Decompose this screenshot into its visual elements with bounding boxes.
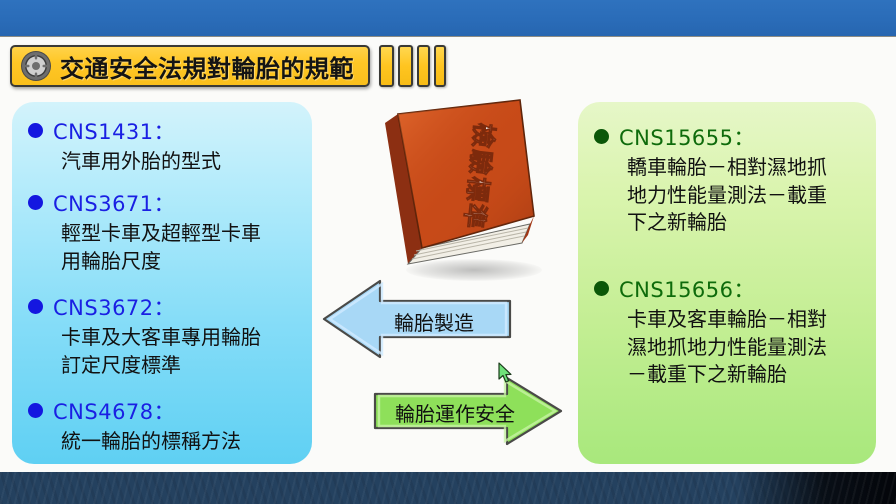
standard-code: CNS15656： (619, 274, 755, 304)
bullet-dot-icon (594, 129, 609, 144)
standard-code: CNS1431： (53, 116, 175, 146)
list-item: CNS4678： 統一輪胎的標稱方法 (28, 396, 300, 456)
slide-canvas: 交通安全法規對輪胎的規範 CNS1431： 汽車用外胎的型式 CNS3671： (0, 0, 896, 504)
desc-line: 下之新輪胎 (627, 209, 864, 237)
list-item: CNS15655： 轎車輪胎－相對濕地抓 地力性能量測法－載重 下之新輪胎 (594, 122, 864, 237)
standard-description: 卡車及大客車專用輪胎 訂定尺度標準 (61, 324, 300, 379)
decorative-bar (398, 45, 413, 87)
bottom-landscape-strip (0, 472, 896, 504)
landscape-dark-right (736, 472, 896, 504)
title-plate: 交通安全法規對輪胎的規範 (10, 45, 370, 87)
slide-title-bar: 交通安全法規對輪胎的規範 (10, 45, 446, 87)
standard-description: 轎車輪胎－相對濕地抓 地力性能量測法－載重 下之新輪胎 (627, 154, 864, 237)
desc-line: －載重下之新輪胎 (627, 361, 864, 389)
bullet-dot-icon (594, 281, 609, 296)
arrow-tire-manufacturing: 輪胎製造 (322, 277, 512, 361)
bullet-dot-icon (28, 195, 43, 210)
standard-code: CNS4678： (53, 396, 175, 426)
mouse-cursor-icon (498, 362, 514, 384)
arrow-left-label: 輪胎製造 (394, 307, 474, 336)
tire-icon (20, 50, 52, 82)
right-standards-panel: CNS15655： 轎車輪胎－相對濕地抓 地力性能量測法－載重 下之新輪胎 CN… (578, 102, 876, 464)
standard-description: 輕型卡車及超輕型卡車 用輪胎尺度 (61, 220, 300, 275)
decorative-bar (434, 45, 446, 87)
desc-line: 濕地抓地力性能量測法 (627, 334, 864, 362)
list-item: CNS3672： 卡車及大客車專用輪胎 訂定尺度標準 (28, 292, 300, 379)
list-item: CNS3671： 輕型卡車及超輕型卡車 用輪胎尺度 (28, 188, 300, 275)
desc-line: 訂定尺度標準 (61, 352, 300, 380)
standard-code: CNS15655： (619, 122, 755, 152)
desc-line: 卡車及大客車專用輪胎 (61, 324, 300, 352)
desc-line: 汽車用外胎的型式 (61, 148, 300, 176)
desc-line: 卡車及客車輪胎－相對 (627, 306, 864, 334)
title-decorative-bars (379, 46, 446, 86)
list-item: CNS1431： 汽車用外胎的型式 (28, 116, 300, 176)
arrow-right-label: 輪胎運作安全 (395, 398, 515, 427)
inspection-standard-book: 檢驗標準 (352, 96, 562, 296)
arrow-tire-operation-safety: 輪胎運作安全 (373, 376, 563, 446)
bullet-dot-icon (28, 299, 43, 314)
standard-description: 汽車用外胎的型式 (61, 148, 300, 176)
decorative-bar (379, 45, 394, 87)
standard-description: 統一輪胎的標稱方法 (61, 428, 300, 456)
left-standards-panel: CNS1431： 汽車用外胎的型式 CNS3671： 輕型卡車及超輕型卡車 用輪… (12, 102, 312, 464)
standard-description: 卡車及客車輪胎－相對 濕地抓地力性能量測法 －載重下之新輪胎 (627, 306, 864, 389)
desc-line: 用輪胎尺度 (61, 248, 300, 276)
standard-code: CNS3671： (53, 188, 175, 218)
desc-line: 統一輪胎的標稱方法 (61, 428, 300, 456)
page-title: 交通安全法規對輪胎的規範 (60, 49, 354, 84)
desc-line: 地力性能量測法－載重 (627, 182, 864, 210)
top-blue-band (0, 0, 896, 37)
list-item: CNS15656： 卡車及客車輪胎－相對 濕地抓地力性能量測法 －載重下之新輪胎 (594, 274, 864, 389)
bullet-dot-icon (28, 123, 43, 138)
desc-line: 輕型卡車及超輕型卡車 (61, 220, 300, 248)
desc-line: 轎車輪胎－相對濕地抓 (627, 154, 864, 182)
decorative-bar (417, 45, 430, 87)
standard-code: CNS3672： (53, 292, 175, 322)
bullet-dot-icon (28, 403, 43, 418)
